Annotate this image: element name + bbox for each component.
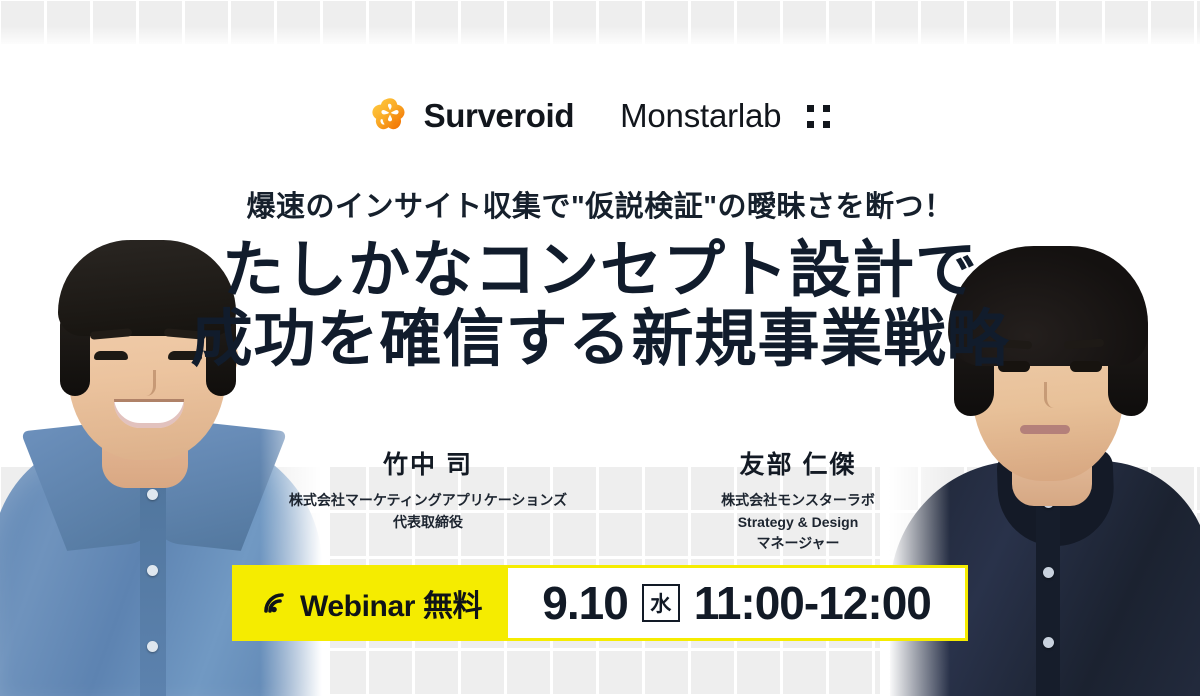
event-detail-bar: Webinar 無料 9.10 水 11:00-12:00 — [232, 565, 968, 641]
speaker-title: 代表取締役 — [268, 512, 588, 534]
event-datetime: 9.10 水 11:00-12:00 — [508, 568, 965, 638]
headline-line-2: 成功を確信する新規事業戦略 — [0, 305, 1200, 374]
speaker-name: 友部 仁傑 — [648, 445, 948, 481]
speaker-department: Strategy & Design — [648, 512, 948, 534]
monstarlab-logo[interactable]: Monstarlab — [620, 97, 830, 135]
event-date: 9.10 — [542, 576, 628, 630]
speaker-company: 株式会社モンスターラボ — [648, 490, 948, 512]
brand-logo-row: Surveroid Monstarlab — [0, 96, 1200, 136]
webinar-banner: Surveroid Monstarlab 爆速のインサイト収集で"仮説検証"の曖… — [0, 0, 1200, 696]
monstarlab-dots-icon — [807, 105, 830, 128]
headline-line-1: たしかなコンセプト設計で — [0, 236, 1200, 305]
webinar-badge: Webinar 無料 — [235, 568, 508, 638]
event-day-of-week: 水 — [642, 584, 680, 622]
speaker-title: マネージャー — [648, 533, 948, 555]
monstarlab-wordmark: Monstarlab — [620, 97, 781, 135]
speaker-name: 竹中 司 — [268, 445, 588, 481]
subtitle-text: 爆速のインサイト収集で"仮説検証"の曖昧さを断つ！ — [0, 183, 1200, 225]
speaker-company: 株式会社マーケティングアプリケーションズ — [268, 490, 588, 512]
surveroid-flower-icon — [370, 96, 410, 136]
event-time: 11:00-12:00 — [694, 576, 931, 630]
surveroid-logo[interactable]: Surveroid — [370, 96, 574, 136]
webinar-badge-label: Webinar 無料 — [300, 581, 482, 625]
speaker-info-right: 友部 仁傑 株式会社モンスターラボ Strategy & Design マネージ… — [648, 445, 948, 555]
speaker-info-left: 竹中 司 株式会社マーケティングアプリケーションズ 代表取締役 — [268, 445, 588, 533]
surveroid-wordmark: Surveroid — [424, 97, 574, 135]
broadcast-wifi-icon — [261, 590, 291, 616]
headline-text: たしかなコンセプト設計で 成功を確信する新規事業戦略 — [0, 236, 1200, 375]
background-grid-top-fade — [0, 0, 1200, 47]
